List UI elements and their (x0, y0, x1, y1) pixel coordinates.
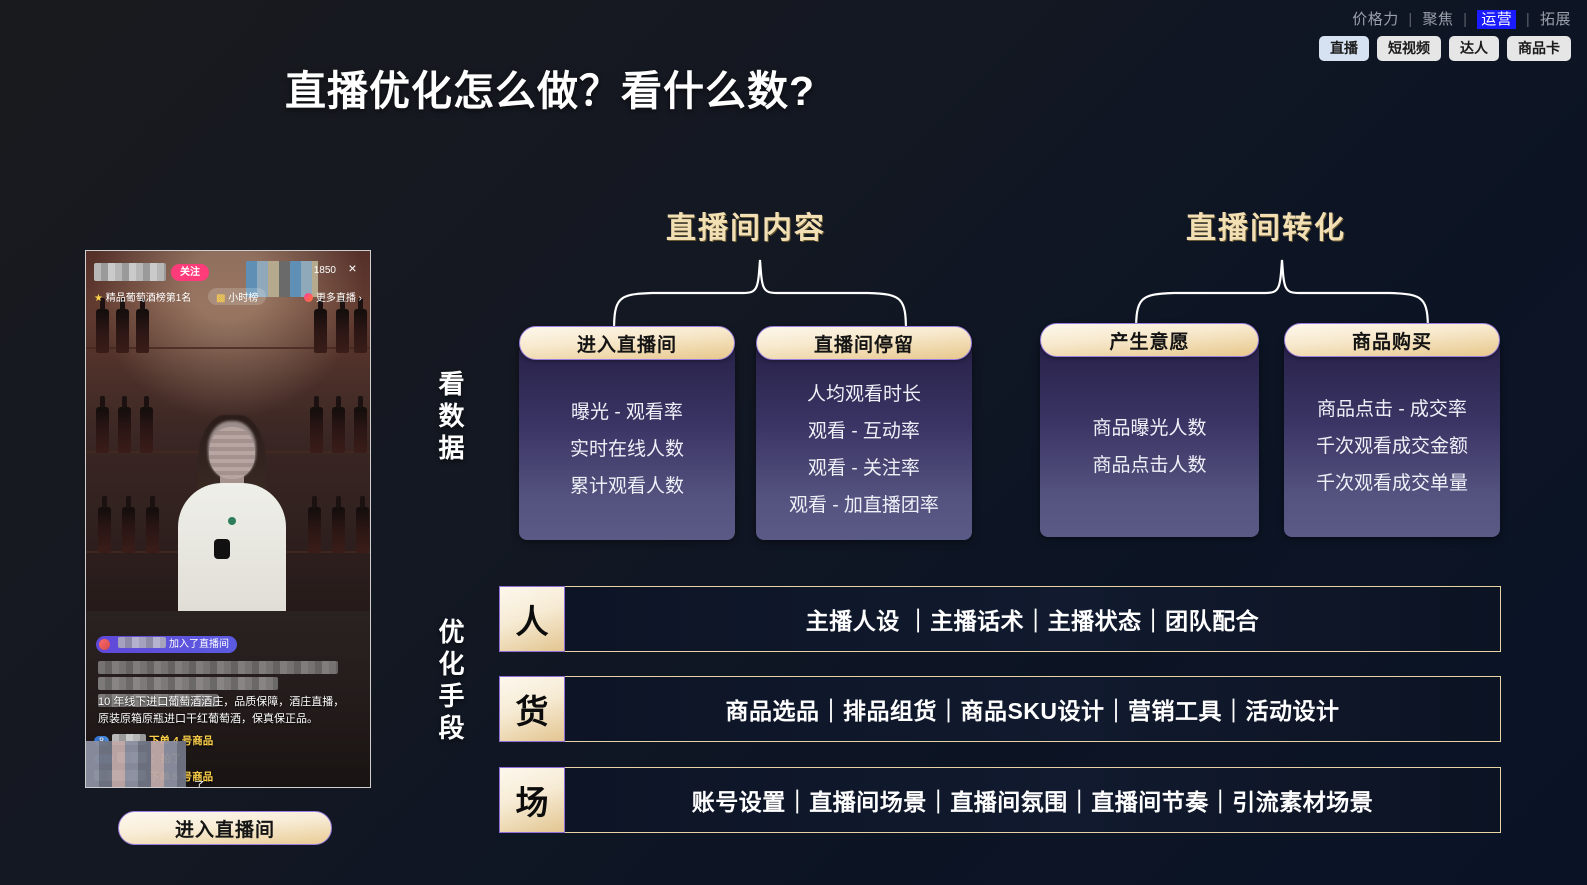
group-header-content: 直播间内容 (666, 203, 826, 247)
nav-link-price[interactable]: 价格力 (1352, 11, 1399, 28)
row-content: 商品选品｜排品组货｜商品SKU设计｜营销工具｜活动设计 (565, 676, 1501, 742)
metric-item: 实时在线人数 (570, 431, 684, 468)
row-badge: 场 (499, 767, 565, 833)
metric-item: 商品点击人数 (1092, 447, 1206, 484)
blurred-chat-line (98, 677, 278, 690)
card-header: 商品购买 (1284, 323, 1500, 357)
hour-rank-button[interactable]: ▩ 小时榜 (208, 288, 266, 305)
close-icon[interactable]: × (345, 261, 360, 276)
rank-text: 精品葡萄酒榜第1名 (106, 293, 192, 304)
optimize-row-venue: 场 账号设置｜直播间场景｜直播间氛围｜直播间节奏｜引流素材场景 (499, 767, 1501, 833)
nav-link-operations[interactable]: 运营 (1477, 10, 1516, 29)
room-description: 10 年线下进口葡萄酒酒庄，品质保障，酒庄直播，原装原箱原瓶进口干红葡萄酒，保真… (98, 694, 354, 728)
nav-link-focus[interactable]: 聚焦 (1422, 11, 1453, 28)
live-dot-icon (304, 293, 313, 302)
metric-item: 商品曝光人数 (1092, 410, 1206, 447)
rank-label: ★ 精品葡萄酒榜第1名 (94, 289, 191, 304)
row-content: 主播人设 ｜主播话术｜主播状态｜团队配合 (565, 586, 1501, 652)
more-live-button[interactable]: 更多直播 › (304, 289, 362, 304)
card-body: 商品曝光人数 商品点击人数 (1040, 342, 1259, 537)
row-content: 账号设置｜直播间场景｜直播间氛围｜直播间节奏｜引流素材场景 (565, 767, 1501, 833)
nav-separator: | (1408, 11, 1412, 28)
card-header: 产生意愿 (1040, 323, 1259, 357)
viewer-count: 1850 (314, 265, 336, 276)
enter-live-room-button[interactable]: 进入直播间 (118, 811, 332, 845)
follow-button[interactable]: 关注 (171, 264, 209, 281)
card-header: 进入直播间 (519, 326, 735, 360)
brace-conversion (1122, 248, 1442, 334)
tab-short-video[interactable]: 短视频 (1377, 36, 1441, 61)
hour-rank-text: 小时榜 (228, 293, 258, 304)
card-header: 直播间停留 (756, 326, 972, 360)
nav-links: 价格力 | 聚焦 | 运营 | 拓展 (1319, 8, 1571, 29)
brace-content (600, 248, 920, 334)
join-room-message: 加入了直播间 (96, 636, 237, 653)
metric-item: 商品点击 - 成交率 (1317, 391, 1467, 428)
metric-item: 累计观看人数 (570, 468, 684, 505)
tab-live[interactable]: 直播 (1319, 36, 1369, 61)
card-body: 曝光 - 观看率 实时在线人数 累计观看人数 (519, 345, 735, 540)
row-badge: 人 (499, 586, 565, 652)
live-room-screenshot[interactable]: 关注 1850 × ★ 精品葡萄酒榜第1名 ▩ 小时榜 更多直播 › 加入了直播… (85, 250, 371, 788)
metric-item: 观看 - 互动率 (808, 413, 920, 450)
metric-card-purchase: 商品购买 商品点击 - 成交率 千次观看成交金额 千次观看成交单量 (1284, 323, 1500, 537)
tab-product-card[interactable]: 商品卡 (1507, 36, 1571, 61)
metric-item: 千次观看成交金额 (1316, 428, 1468, 465)
card-body: 人均观看时长 观看 - 互动率 观看 - 关注率 观看 - 加直播团率 (756, 345, 972, 540)
tab-influencer[interactable]: 达人 (1449, 36, 1499, 61)
optimize-row-people: 人 主播人设 ｜主播话术｜主播状态｜团队配合 (499, 586, 1501, 652)
live-room-overlay: 关注 1850 × ★ 精品葡萄酒榜第1名 ▩ 小时榜 更多直播 › 加入了直播… (86, 251, 370, 787)
chat-order-text: 了 (194, 780, 205, 788)
card-body: 商品点击 - 成交率 千次观看成交金额 千次观看成交单量 (1284, 342, 1500, 537)
side-label-data: 看数据 (432, 370, 469, 466)
nav-link-expand[interactable]: 拓展 (1540, 11, 1571, 28)
blurred-chat-line (98, 661, 338, 674)
chat-message: 了 (194, 778, 205, 788)
metric-item: 曝光 - 观看率 (571, 394, 683, 431)
page-title: 直播优化怎么做？看什么数? (0, 57, 1100, 117)
nav-separator: | (1463, 11, 1467, 28)
metric-item: 观看 - 加直播团率 (789, 487, 939, 524)
group-header-conversion: 直播间转化 (1186, 203, 1346, 247)
metric-item: 千次观看成交单量 (1316, 465, 1468, 502)
side-label-optimize: 优化手段 (432, 618, 469, 746)
metric-item: 人均观看时长 (807, 376, 921, 413)
row-badge: 货 (499, 676, 565, 742)
nav-separator: | (1526, 11, 1530, 28)
optimize-row-goods: 货 商品选品｜排品组货｜商品SKU设计｜营销工具｜活动设计 (499, 676, 1501, 742)
top-navigation: 价格力 | 聚焦 | 运营 | 拓展 直播 短视频 达人 商品卡 (1319, 8, 1571, 61)
metric-card-intent: 产生意愿 商品曝光人数 商品点击人数 (1040, 323, 1259, 537)
metric-item: 观看 - 关注率 (808, 450, 920, 487)
nav-tabs: 直播 短视频 达人 商品卡 (1319, 36, 1571, 61)
slide-canvas: 价格力 | 聚焦 | 运营 | 拓展 直播 短视频 达人 商品卡 直播优化怎么做… (0, 0, 1587, 885)
blurred-avatar-name (94, 263, 166, 281)
blurred-bottom-bar (86, 741, 186, 787)
metric-card-stay: 直播间停留 人均观看时长 观看 - 互动率 观看 - 关注率 观看 - 加直播团… (756, 326, 972, 540)
metric-card-enter-room: 进入直播间 曝光 - 观看率 实时在线人数 累计观看人数 (519, 326, 735, 540)
